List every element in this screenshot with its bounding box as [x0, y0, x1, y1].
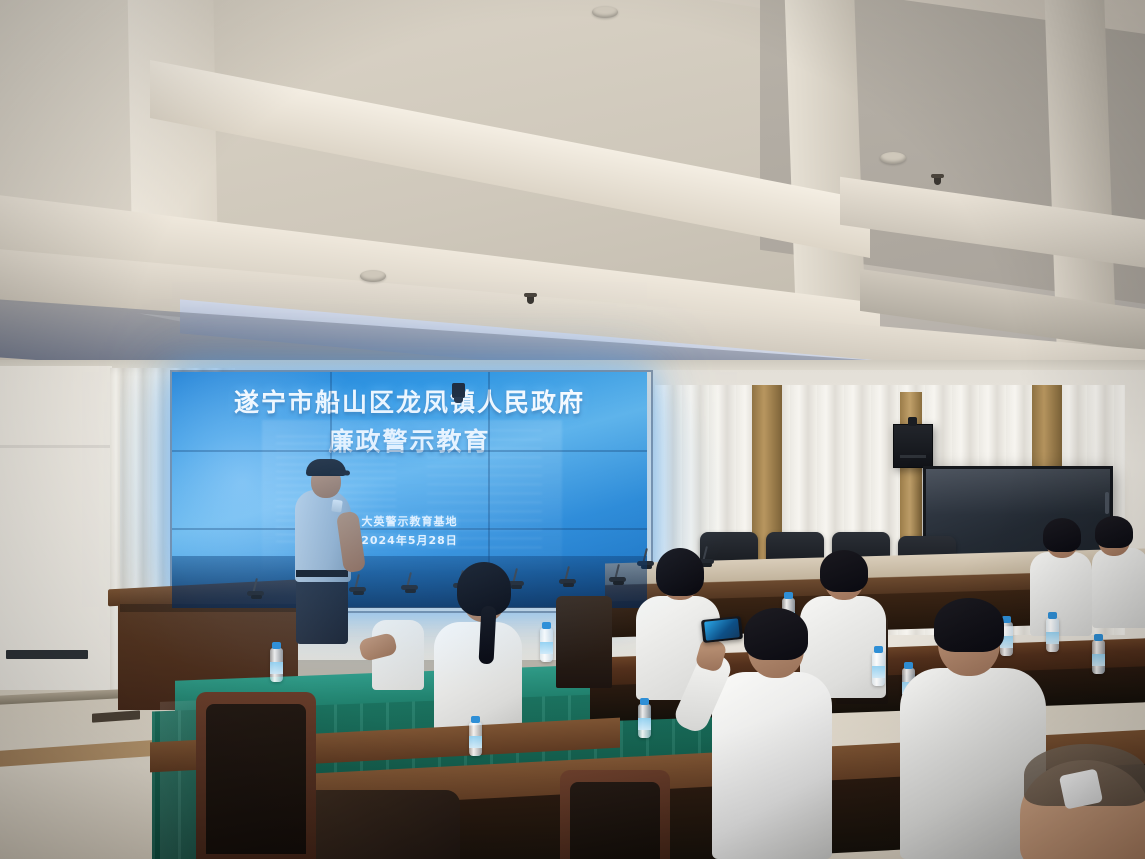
- sprinkler-head-icon: [527, 295, 534, 304]
- water-bottle[interactable]: [1092, 640, 1105, 674]
- smartphone-recording[interactable]: [701, 616, 743, 643]
- attendee-ponytail: [478, 606, 496, 665]
- wall-speaker-icon: [893, 424, 933, 468]
- tv-side-button[interactable]: [1105, 492, 1109, 514]
- attendee-hair: [656, 548, 704, 596]
- presenter-legs: [296, 574, 348, 644]
- presenter-belt: [296, 570, 348, 577]
- chair-foreground[interactable]: [300, 790, 460, 859]
- smoke-detector-icon: [592, 6, 618, 18]
- police-cap-icon: [306, 459, 346, 476]
- tv-screen-reflection: [926, 469, 1110, 515]
- attendee-torso: [1030, 552, 1092, 636]
- wall-seam: [0, 445, 112, 448]
- chair-foreground-left-seatback: [206, 704, 306, 854]
- attendee-hair: [1043, 518, 1081, 552]
- water-bottle[interactable]: [638, 704, 651, 738]
- attendee-hair: [1095, 516, 1133, 548]
- sprinkler-head-icon: [934, 176, 941, 185]
- attendee-torso: [1092, 548, 1145, 628]
- meeting-room-photo: 遂宁市船山区龙凤镇人民政府 廉政警示教育 大英警示教育基地 2024年5月28日: [0, 0, 1145, 859]
- attendee-hair: [820, 550, 868, 592]
- water-bottle[interactable]: [469, 722, 482, 756]
- water-bottle[interactable]: [872, 652, 885, 686]
- water-bottle[interactable]: [270, 648, 283, 682]
- water-bottle[interactable]: [540, 628, 553, 662]
- water-bottle[interactable]: [1046, 618, 1059, 652]
- coffered-ceiling: [0, 0, 1145, 392]
- attendee-torso: [712, 672, 832, 859]
- attendee-hair: [934, 598, 1004, 652]
- shoulder-insignia-icon: [331, 499, 343, 512]
- attendee-hair: [744, 608, 808, 660]
- smoke-detector-icon: [880, 152, 906, 164]
- smoke-detector-icon: [360, 270, 386, 282]
- audience-chair[interactable]: [556, 596, 612, 688]
- ceiling-camera-icon: [452, 383, 465, 398]
- chair-foreground-center-seatback: [570, 782, 660, 859]
- wall-vent-icon: [6, 650, 88, 659]
